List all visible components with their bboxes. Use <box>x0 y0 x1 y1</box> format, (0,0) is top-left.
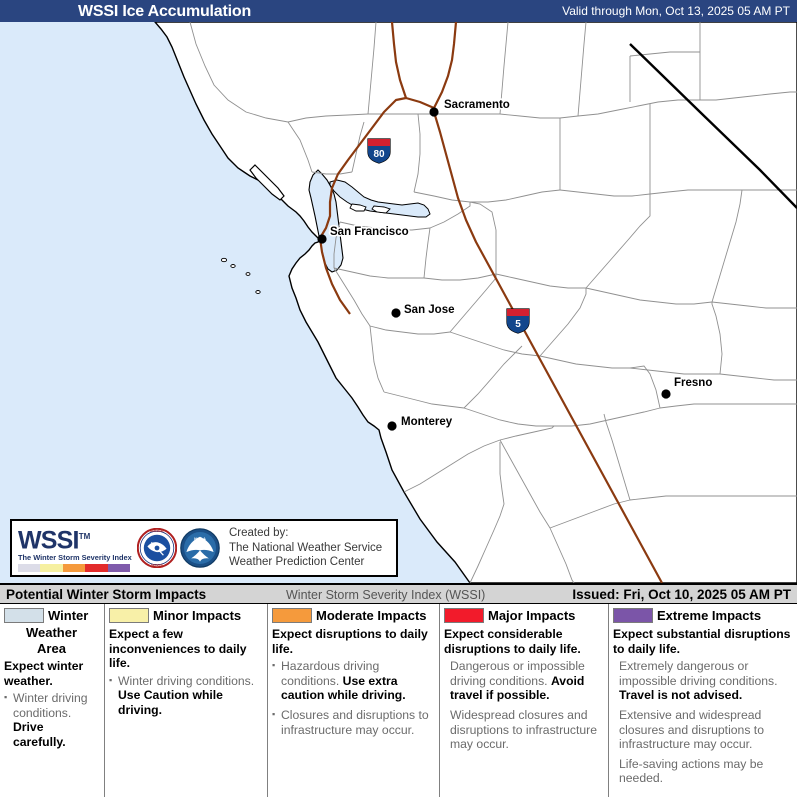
legend-bullet-list: Dangerous or impossible driving conditio… <box>444 659 603 752</box>
legend-bullet: Widespread closures and disruptions to i… <box>444 708 603 752</box>
svg-text:NOAA: NOAA <box>194 536 206 541</box>
svg-text:SERVICE: SERVICE <box>151 563 163 567</box>
city-dot <box>661 389 670 398</box>
city-dot <box>429 107 438 116</box>
svg-text:80: 80 <box>373 149 385 160</box>
valid-through-text: Valid through Mon, Oct 13, 2025 05 AM PT <box>562 4 790 19</box>
page-title: WSSI Ice Accumulation <box>78 2 251 21</box>
legend-lead-text: Expect winter weather. <box>4 659 99 688</box>
city-dot <box>317 234 326 243</box>
nws-seal-icon: NATIONAL SERVICE <box>137 528 177 568</box>
legend-bullet: Life-saving actions may be needed. <box>613 757 792 786</box>
legend-bullet: Extensive and widespread closures and di… <box>613 708 792 752</box>
wssi-map-page: WSSI Ice Accumulation Valid through Mon,… <box>0 0 797 797</box>
legend-header: Major Impacts <box>444 607 603 625</box>
legend-swatch <box>444 608 484 623</box>
credit-line-1: The National Weather Service <box>229 541 382 556</box>
legend-title: Winter <box>48 608 88 623</box>
legend-swatch <box>4 608 44 623</box>
legend-swatch <box>272 608 312 623</box>
legend-swatch <box>613 608 653 623</box>
status-center-label: Winter Storm Severity Index (WSSI) <box>286 587 485 603</box>
interstate-shield-5: 5 <box>507 309 529 333</box>
legend-bullet-list: Hazardous driving conditions. Use extra … <box>272 659 434 737</box>
legend-swatch <box>109 608 149 623</box>
city-label: San Francisco <box>330 226 409 238</box>
city-dot <box>391 308 400 317</box>
legend-title-continued: WeatherArea <box>4 625 99 657</box>
legend-lead-text: Expect a few inconveniences to daily lif… <box>109 627 262 671</box>
legend-bullet-emphasis: Travel is not advised. <box>619 688 742 702</box>
offshore-island <box>231 265 235 268</box>
legend-header: Minor Impacts <box>109 607 262 625</box>
legend-title: Extreme Impacts <box>657 608 761 623</box>
impact-legend: WinterWeatherAreaExpect winter weather.W… <box>0 603 797 797</box>
legend-bullet-emphasis: Drive carefully. <box>13 720 66 749</box>
city-label: Sacramento <box>444 99 510 111</box>
wssi-severity-colorbar <box>18 564 130 572</box>
legend-header: Extreme Impacts <box>613 607 792 625</box>
legend-lead-text: Expect disruptions to daily life. <box>272 627 434 656</box>
city-label: San Jose <box>404 304 455 316</box>
legend-title: Minor Impacts <box>153 608 241 623</box>
legend-bullet: Closures and disruptions to infrastructu… <box>272 708 434 737</box>
legend-lead-text: Expect considerable disruptions to daily… <box>444 627 603 656</box>
legend-bullet-emphasis: Use Caution while driving. <box>118 688 223 717</box>
legend-lead-text: Expect substantial disruptions to daily … <box>613 627 792 656</box>
legend-title: Moderate Impacts <box>316 608 427 623</box>
legend-bullet: Winter driving conditions. Use Caution w… <box>109 674 262 718</box>
wssi-logo: WSSITM The Winter Storm Severity Index <box>12 524 134 572</box>
offshore-island <box>246 273 250 276</box>
map-canvas[interactable]: 80 5 SacramentoSacramentoSan FranciscoSa… <box>0 22 797 583</box>
svg-text:NATIONAL: NATIONAL <box>150 529 165 533</box>
interstate-shield-80: 80 <box>368 139 390 163</box>
credit-line-2: Weather Prediction Center <box>229 555 382 570</box>
offshore-island <box>256 291 260 294</box>
noaa-seal-icon: NOAA <box>180 528 220 568</box>
legend-bullet-list: Extremely dangerous or impossible drivin… <box>613 659 792 786</box>
legend-header: Moderate Impacts <box>272 607 434 625</box>
legend-title: Major Impacts <box>488 608 575 623</box>
svg-text:5: 5 <box>515 319 521 330</box>
city-label: Fresno <box>674 377 712 389</box>
offshore-island <box>221 258 226 261</box>
legend-column-winter-weather-area: WinterWeatherAreaExpect winter weather.W… <box>0 604 105 797</box>
legend-bullet-list: Winter driving conditions. Drive careful… <box>4 691 99 749</box>
credit-line-0: Created by: <box>229 526 382 541</box>
colorbar-segment-3 <box>85 564 107 572</box>
trademark-mark: TM <box>79 532 91 541</box>
wssi-wordmark: WSSITM <box>18 524 134 553</box>
colorbar-segment-1 <box>40 564 62 572</box>
status-strip: Potential Winter Storm Impacts Winter St… <box>0 583 797 603</box>
map-graphic[interactable]: 80 5 SacramentoSacramentoSan FranciscoSa… <box>0 22 797 583</box>
wssi-tagline: The Winter Storm Severity Index <box>18 553 134 562</box>
legend-bullet: Winter driving conditions. Drive careful… <box>4 691 99 749</box>
legend-column-minor-impacts: Minor ImpactsExpect a few inconveniences… <box>105 604 268 797</box>
wssi-wordmark-text: WSSI <box>18 526 79 554</box>
credit-box: WSSITM The Winter Storm Severity Index N… <box>10 519 398 577</box>
issued-label: Issued: Fri, Oct 10, 2025 05 AM PT <box>572 586 791 603</box>
legend-bullet: Hazardous driving conditions. Use extra … <box>272 659 434 703</box>
legend-column-moderate-impacts: Moderate ImpactsExpect disruptions to da… <box>268 604 440 797</box>
city-label: Monterey <box>401 416 453 428</box>
city-dot <box>387 421 396 430</box>
colorbar-segment-0 <box>18 564 40 572</box>
status-left-label: Potential Winter Storm Impacts <box>6 586 206 603</box>
colorbar-segment-4 <box>108 564 130 572</box>
legend-bullet-list: Winter driving conditions. Use Caution w… <box>109 674 262 718</box>
legend-bullet-emphasis: Avoid travel if possible. <box>450 674 584 703</box>
header-bar: WSSI Ice Accumulation Valid through Mon,… <box>0 0 797 22</box>
legend-bullet: Extremely dangerous or impossible drivin… <box>613 659 792 703</box>
colorbar-segment-2 <box>63 564 85 572</box>
credit-text: Created by: The National Weather Service… <box>229 526 382 570</box>
legend-header: WinterWeatherArea <box>4 607 99 657</box>
legend-column-extreme-impacts: Extreme ImpactsExpect substantial disrup… <box>609 604 797 797</box>
legend-bullet-emphasis: Use extra caution while driving. <box>281 674 406 703</box>
legend-bullet: Dangerous or impossible driving conditio… <box>444 659 603 703</box>
legend-column-major-impacts: Major ImpactsExpect considerable disrupt… <box>440 604 609 797</box>
